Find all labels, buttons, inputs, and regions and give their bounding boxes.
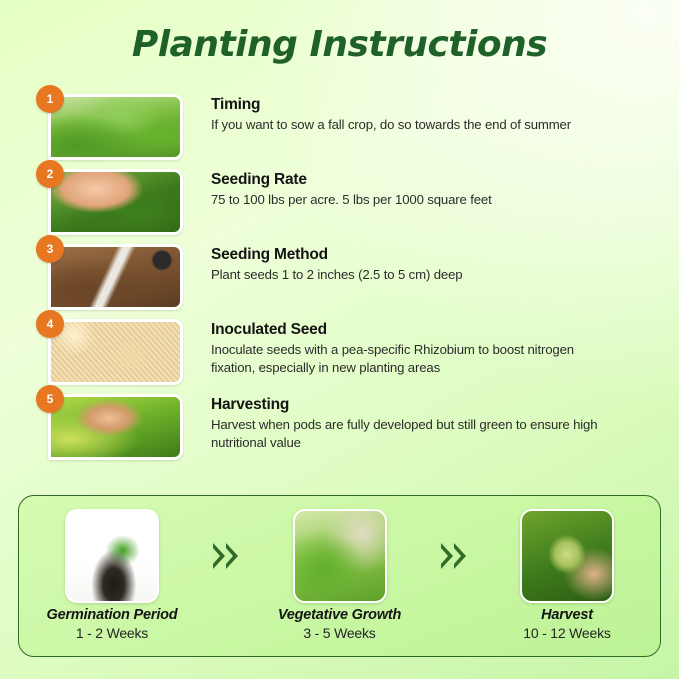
step-text: Inoculated Seed Inoculate seeds with a p…: [183, 319, 603, 376]
step-number-badge: 5: [36, 385, 64, 413]
step-thumbnail-wrap: 3: [48, 244, 183, 310]
list-item: 5 Harvesting Harvest when pods are fully…: [0, 394, 679, 462]
hand-broadcasting-seed-photo: [48, 169, 183, 235]
step-text: Timing If you want to sow a fall crop, d…: [183, 94, 571, 134]
chevron-right-icon: [226, 543, 238, 569]
step-thumbnail-wrap: 5: [48, 394, 183, 460]
pile-of-pea-seeds-photo: [48, 319, 183, 385]
timeline-stage-duration: 3 - 5 Weeks: [265, 625, 415, 641]
step-text: Seeding Method Plant seeds 1 to 2 inches…: [183, 244, 462, 284]
step-thumbnail-wrap: 2: [48, 169, 183, 235]
list-item: 3 Seeding Method Plant seeds 1 to 2 inch…: [0, 244, 679, 312]
step-heading: Seeding Method: [211, 246, 462, 264]
rake-in-soil-photo: [48, 244, 183, 310]
step-description: Harvest when pods are fully developed bu…: [211, 416, 603, 451]
timeline-stage-duration: 10 - 12 Weeks: [492, 625, 642, 641]
step-description: If you want to sow a fall crop, do so to…: [211, 116, 571, 134]
young-pea-plants-photo: [293, 509, 387, 603]
page-title: Planting Instructions: [0, 24, 679, 65]
step-heading: Harvesting: [211, 396, 603, 414]
pea-seedlings-field-photo: [48, 94, 183, 160]
step-heading: Timing: [211, 96, 571, 114]
timeline-stage-harvest: Harvest 10 - 12 Weeks: [492, 509, 642, 641]
step-thumbnail-wrap: 1: [48, 94, 183, 160]
chevron-right-icon: [213, 543, 225, 569]
list-item: 2 Seeding Rate 75 to 100 lbs per acre. 5…: [0, 169, 679, 237]
growth-timeline-panel: Germination Period 1 - 2 Weeks Vegetativ…: [18, 495, 661, 657]
double-chevron-right-icon: [200, 509, 252, 569]
chevron-right-icon: [454, 543, 466, 569]
timeline-stage-vegetative: Vegetative Growth 3 - 5 Weeks: [265, 509, 415, 641]
step-number-badge: 3: [36, 235, 64, 263]
step-thumbnail-wrap: 4: [48, 319, 183, 385]
double-chevron-right-icon: [427, 509, 479, 569]
timeline-stage-label: Harvest: [492, 607, 642, 623]
step-text: Seeding Rate 75 to 100 lbs per acre. 5 l…: [183, 169, 492, 209]
step-description: Inoculate seeds with a pea-specific Rhiz…: [211, 341, 603, 376]
step-heading: Inoculated Seed: [211, 321, 603, 339]
step-number-badge: 4: [36, 310, 64, 338]
timeline-stage-label: Germination Period: [37, 607, 187, 623]
chevron-right-icon: [441, 543, 453, 569]
hand-harvesting-pea-pods-photo: [48, 394, 183, 460]
step-number-badge: 2: [36, 160, 64, 188]
planting-instructions-infographic: Planting Instructions 1 Timing If you wa…: [0, 0, 679, 679]
list-item: 1 Timing If you want to sow a fall crop,…: [0, 94, 679, 162]
step-heading: Seeding Rate: [211, 171, 492, 189]
step-number-badge: 1: [36, 85, 64, 113]
timeline-stage-label: Vegetative Growth: [265, 607, 415, 623]
list-item: 4 Inoculated Seed Inoculate seeds with a…: [0, 319, 679, 387]
harvested-pea-pods-in-hand-photo: [520, 509, 614, 603]
step-description: Plant seeds 1 to 2 inches (2.5 to 5 cm) …: [211, 266, 462, 284]
step-text: Harvesting Harvest when pods are fully d…: [183, 394, 603, 451]
timeline-stage-germination: Germination Period 1 - 2 Weeks: [37, 509, 187, 641]
step-description: 75 to 100 lbs per acre. 5 lbs per 1000 s…: [211, 191, 492, 209]
sprouting-seed-photo: [65, 509, 159, 603]
steps-list: 1 Timing If you want to sow a fall crop,…: [0, 94, 679, 469]
timeline-stage-duration: 1 - 2 Weeks: [37, 625, 187, 641]
